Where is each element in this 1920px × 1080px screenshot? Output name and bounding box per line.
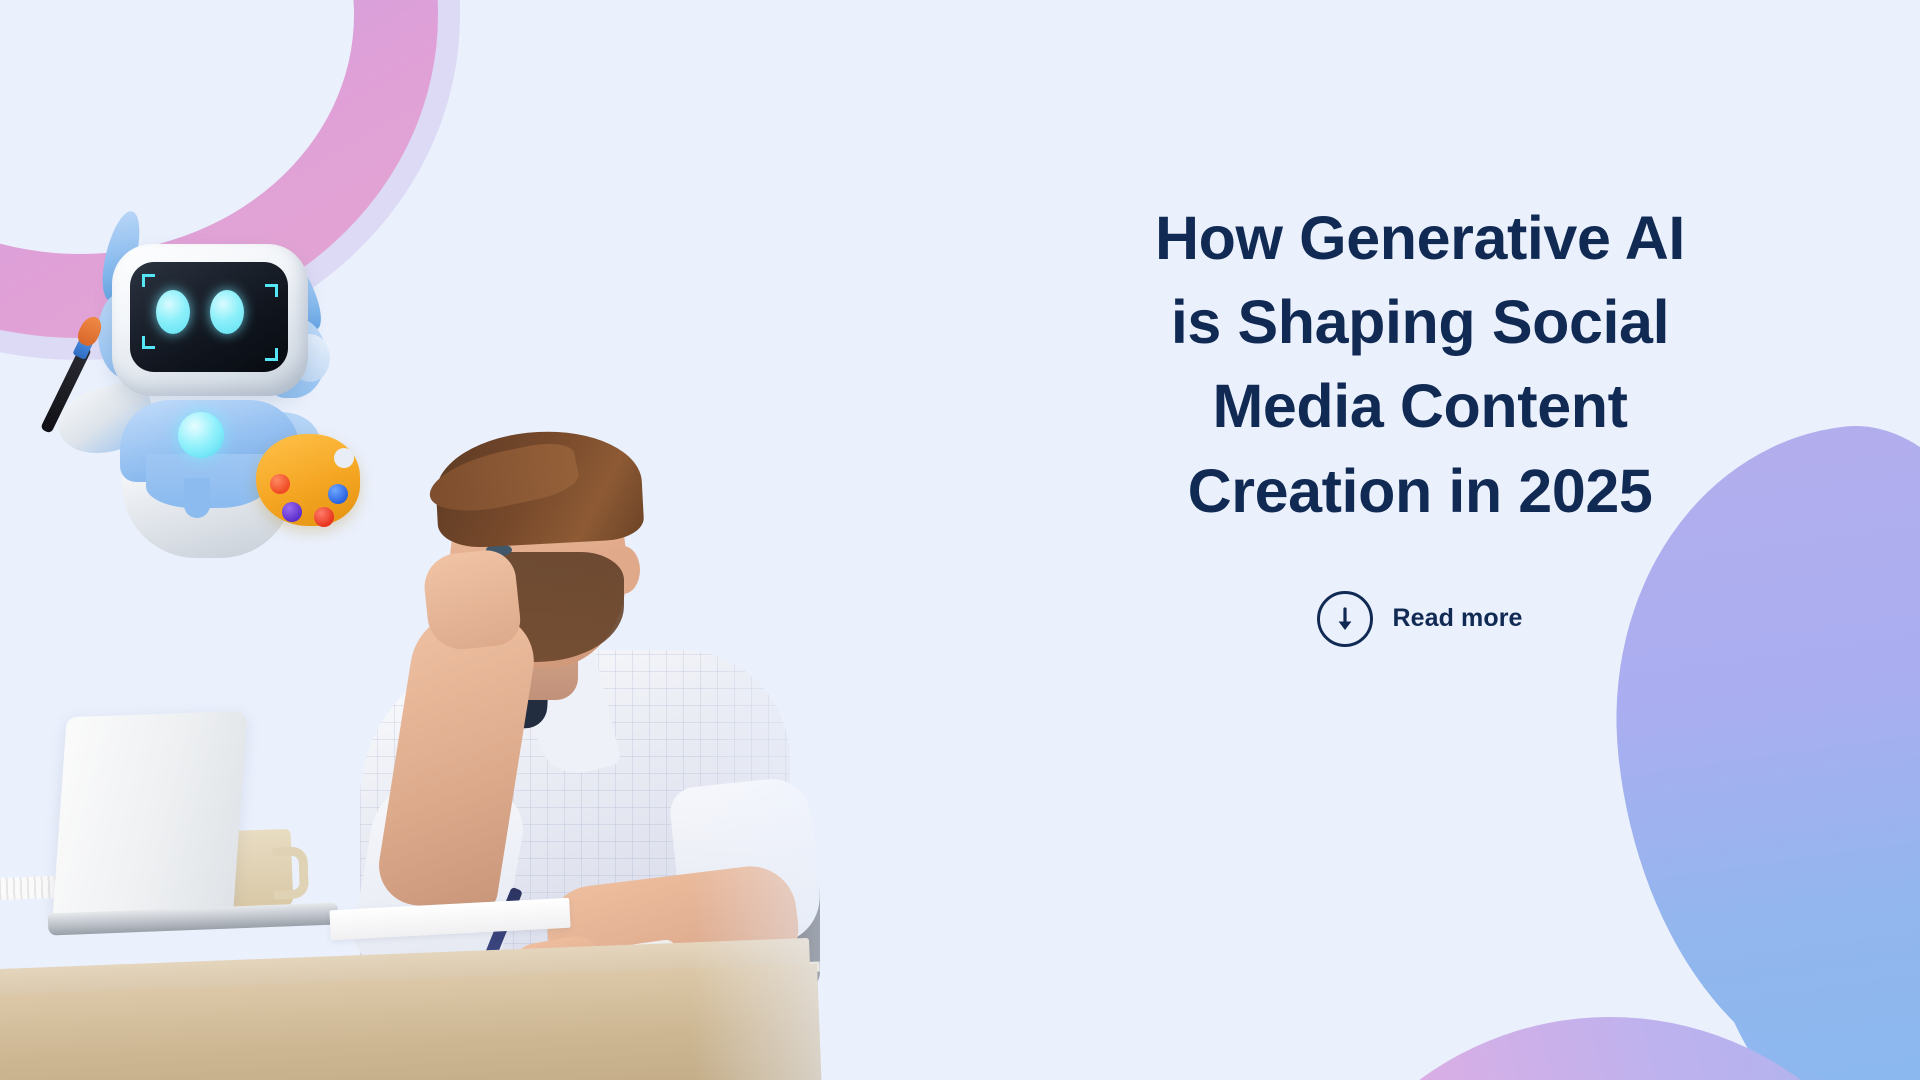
screen-corner-bracket-top-right	[265, 284, 278, 297]
headline-line-3: Media Content	[1020, 364, 1820, 448]
headline-line-2: is Shaping Social	[1020, 280, 1820, 364]
screen-corner-bracket-bottom-right	[265, 348, 278, 361]
palette-thumb-hole	[334, 448, 354, 468]
palette-paint-dot	[314, 507, 334, 527]
page-title: How Generative AI is Shaping Social Medi…	[1020, 196, 1820, 533]
hero-text-column: How Generative AI is Shaping Social Medi…	[1020, 196, 1820, 647]
bottom-right-gradient-circle	[1290, 1017, 1920, 1080]
ai-robot-mascot	[46, 222, 356, 552]
screen-corner-bracket-bottom-left	[142, 336, 155, 349]
read-more-button[interactable]: Read more	[1317, 591, 1522, 647]
robot-eye-right-icon	[210, 290, 244, 334]
screen-corner-bracket-top-left	[142, 274, 155, 287]
headline-line-4: Creation in 2025	[1020, 449, 1820, 533]
palette-paint-dot	[328, 484, 348, 504]
hero-banner: How Generative AI is Shaping Social Medi…	[0, 0, 1920, 1080]
robot-eye-left-icon	[156, 290, 190, 334]
palette-paint-dot	[270, 474, 290, 494]
palette-paint-dot	[282, 502, 302, 522]
headline-line-1: How Generative AI	[1020, 196, 1820, 280]
circle-arrow-down-icon[interactable]	[1317, 591, 1373, 647]
read-more-label: Read more	[1392, 604, 1522, 633]
robot-chest-core-icon	[178, 412, 224, 458]
robot-body-drip-tail	[184, 478, 210, 518]
